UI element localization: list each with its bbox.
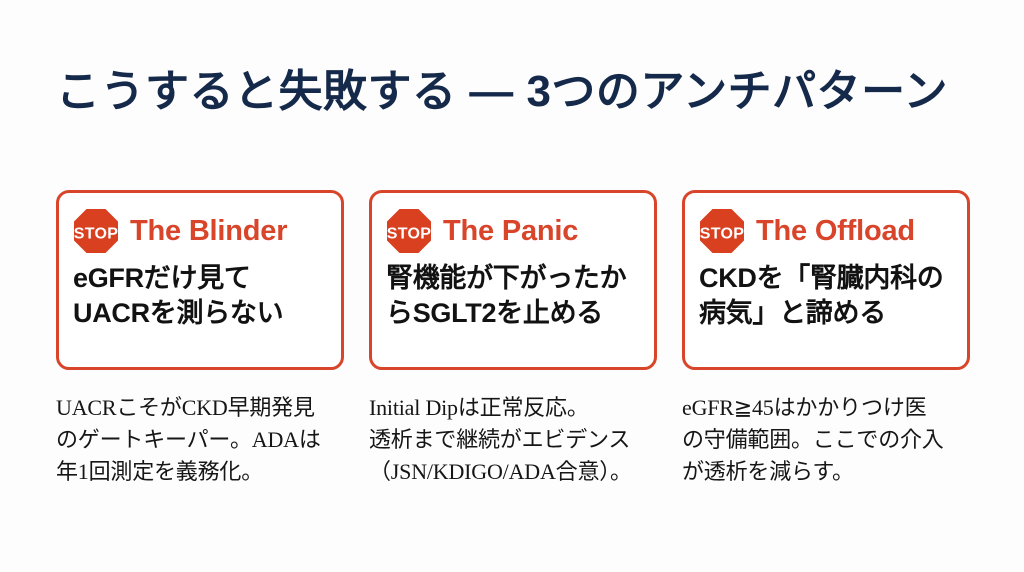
card-body-line: 腎機能が下がったか: [386, 261, 640, 296]
caption-line: が透析を減らす。: [682, 456, 970, 488]
anti-pattern-column-3: STOP The Offload CKDを「腎臓内科の 病気」と諦める eGFR…: [682, 190, 970, 488]
svg-text:STOP: STOP: [74, 226, 119, 243]
caption-line: のゲートキーパー。ADAは: [56, 424, 344, 456]
card-body-line: 病気」と諦める: [699, 296, 953, 331]
caption-line: （JSN/KDIGO/ADA合意）。: [369, 456, 657, 488]
card-caption-1: UACRこそがCKD早期発見 のゲートキーパー。ADAは 年1回測定を義務化。: [56, 392, 344, 488]
svg-text:STOP: STOP: [387, 226, 432, 243]
card-body-3: CKDを「腎臓内科の 病気」と諦める: [699, 261, 953, 331]
card-header-2: STOP The Panic: [386, 209, 640, 253]
anti-pattern-card-2[interactable]: STOP The Panic 腎機能が下がったか らSGLT2を止める: [369, 190, 657, 370]
stop-sign-icon: STOP: [699, 208, 745, 254]
page-title: こうすると失敗する ― 3つのアンチパターン: [56, 67, 948, 116]
anti-pattern-column-1: STOP The Blinder eGFRだけ見て UACRを測らない UACR…: [56, 190, 344, 488]
card-body-line: UACRを測らない: [73, 296, 327, 331]
card-body-line: CKDを「腎臓内科の: [699, 261, 953, 296]
stop-sign-icon: STOP: [386, 208, 432, 254]
card-caption-2: Initial Dipは正常反応。 透析まで継続がエビデンス （JSN/KDIG…: [369, 392, 657, 488]
card-heading-3: The Offload: [756, 217, 915, 246]
anti-pattern-card-row: STOP The Blinder eGFRだけ見て UACRを測らない UACR…: [56, 190, 970, 488]
anti-pattern-column-2: STOP The Panic 腎機能が下がったか らSGLT2を止める Init…: [369, 190, 657, 488]
card-body-1: eGFRだけ見て UACRを測らない: [73, 261, 327, 331]
anti-pattern-card-3[interactable]: STOP The Offload CKDを「腎臓内科の 病気」と諦める: [682, 190, 970, 370]
svg-text:STOP: STOP: [700, 226, 745, 243]
card-header-1: STOP The Blinder: [73, 209, 327, 253]
caption-line: の守備範囲。ここでの介入: [682, 424, 970, 456]
card-heading-1: The Blinder: [130, 217, 287, 246]
card-body-line: eGFRだけ見て: [73, 261, 327, 296]
card-header-3: STOP The Offload: [699, 209, 953, 253]
caption-line: UACRこそがCKD早期発見: [56, 392, 344, 424]
stop-sign-icon: STOP: [73, 208, 119, 254]
card-body-2: 腎機能が下がったか らSGLT2を止める: [386, 261, 640, 331]
caption-line: eGFR≧45はかかりつけ医: [682, 392, 970, 424]
caption-line: 透析まで継続がエビデンス: [369, 424, 657, 456]
card-caption-3: eGFR≧45はかかりつけ医 の守備範囲。ここでの介入 が透析を減らす。: [682, 392, 970, 488]
caption-line: Initial Dipは正常反応。: [369, 392, 657, 424]
anti-pattern-card-1[interactable]: STOP The Blinder eGFRだけ見て UACRを測らない: [56, 190, 344, 370]
card-heading-2: The Panic: [443, 217, 578, 246]
caption-line: 年1回測定を義務化。: [56, 456, 344, 488]
card-body-line: らSGLT2を止める: [386, 296, 640, 331]
